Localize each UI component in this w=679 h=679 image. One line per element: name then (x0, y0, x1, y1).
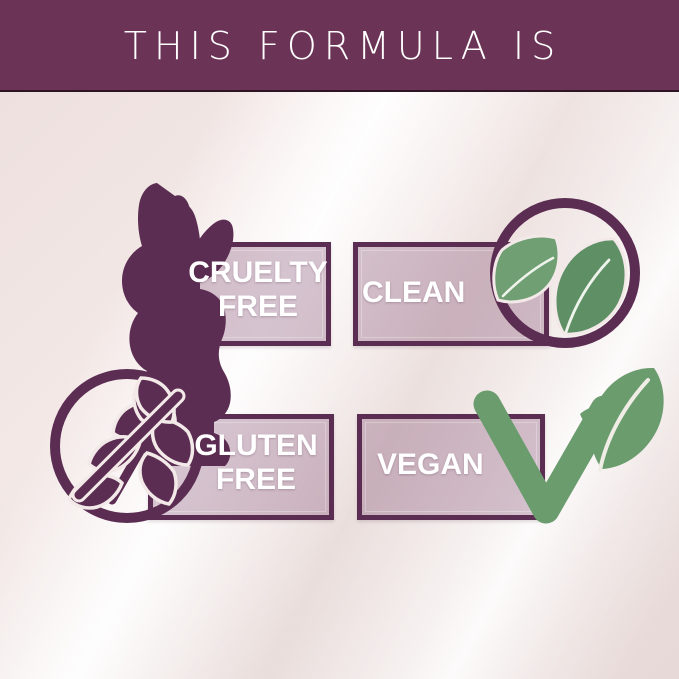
header-band: THIS FORMULA IS (0, 0, 679, 92)
badge-label-gluten-free: GLUTEN FREE (183, 431, 329, 495)
badge-label-line1: VEGAN (377, 450, 517, 480)
badge-label-vegan: VEGAN (377, 450, 517, 480)
background-gradient (0, 0, 679, 679)
badge-label-line1: GLUTEN (183, 431, 329, 461)
badge-label-line2: FREE (183, 465, 329, 495)
badge-label-line1: CRUELTY (185, 258, 331, 288)
page-title: THIS FORMULA IS (0, 24, 679, 68)
badge-label-line2: FREE (185, 292, 331, 322)
product-claims-graphic: THIS FORMULA IS (0, 0, 679, 679)
badge-label-clean: CLEAN (362, 278, 492, 308)
badge-label-line1: CLEAN (362, 278, 492, 308)
badge-label-cruelty-free: CRUELTY FREE (185, 258, 331, 322)
